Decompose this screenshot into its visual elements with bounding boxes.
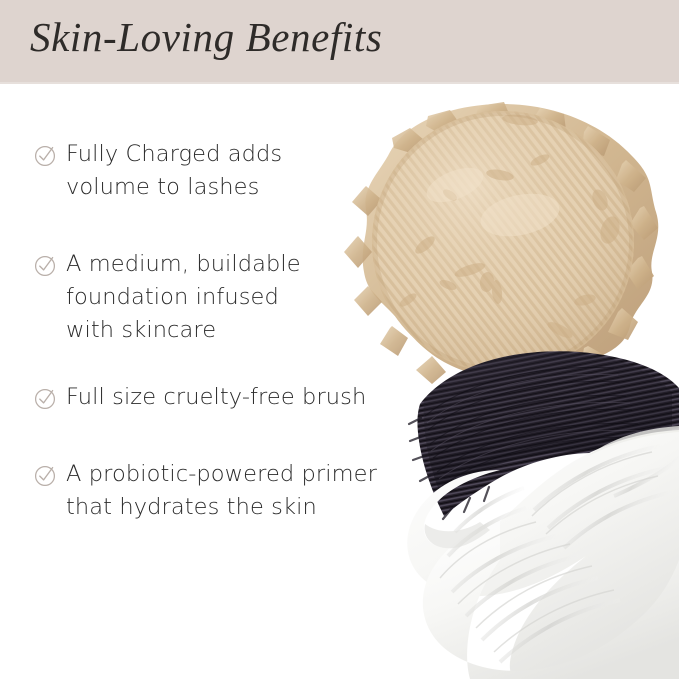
list-item: A medium, buildable foundation infused w… <box>34 248 301 347</box>
mascara-swatch <box>390 340 679 520</box>
list-item: Fully Charged adds volume to lashes <box>34 138 282 204</box>
list-item-label: A probiotic-powered primer that hydrates… <box>66 458 377 524</box>
check-circle-icon <box>34 254 57 277</box>
list-item-label: A medium, buildable foundation infused w… <box>66 248 301 347</box>
check-circle-icon <box>34 144 57 167</box>
product-benefits-graphic: Skin-Loving Benefits Fully Charged adds … <box>0 0 679 679</box>
list-item-label: Fully Charged adds volume to lashes <box>66 138 282 204</box>
header-band: Skin-Loving Benefits <box>0 0 679 84</box>
primer-cream-swatch <box>407 426 679 679</box>
pressed-powder-swatch <box>344 102 658 400</box>
page-title: Skin-Loving Benefits <box>30 13 382 61</box>
check-circle-icon <box>34 464 57 487</box>
check-circle-icon <box>34 387 57 410</box>
list-item: Full size cruelty-free brush <box>34 381 366 414</box>
list-item: A probiotic-powered primer that hydrates… <box>34 458 377 524</box>
list-item-label: Full size cruelty-free brush <box>66 381 366 414</box>
